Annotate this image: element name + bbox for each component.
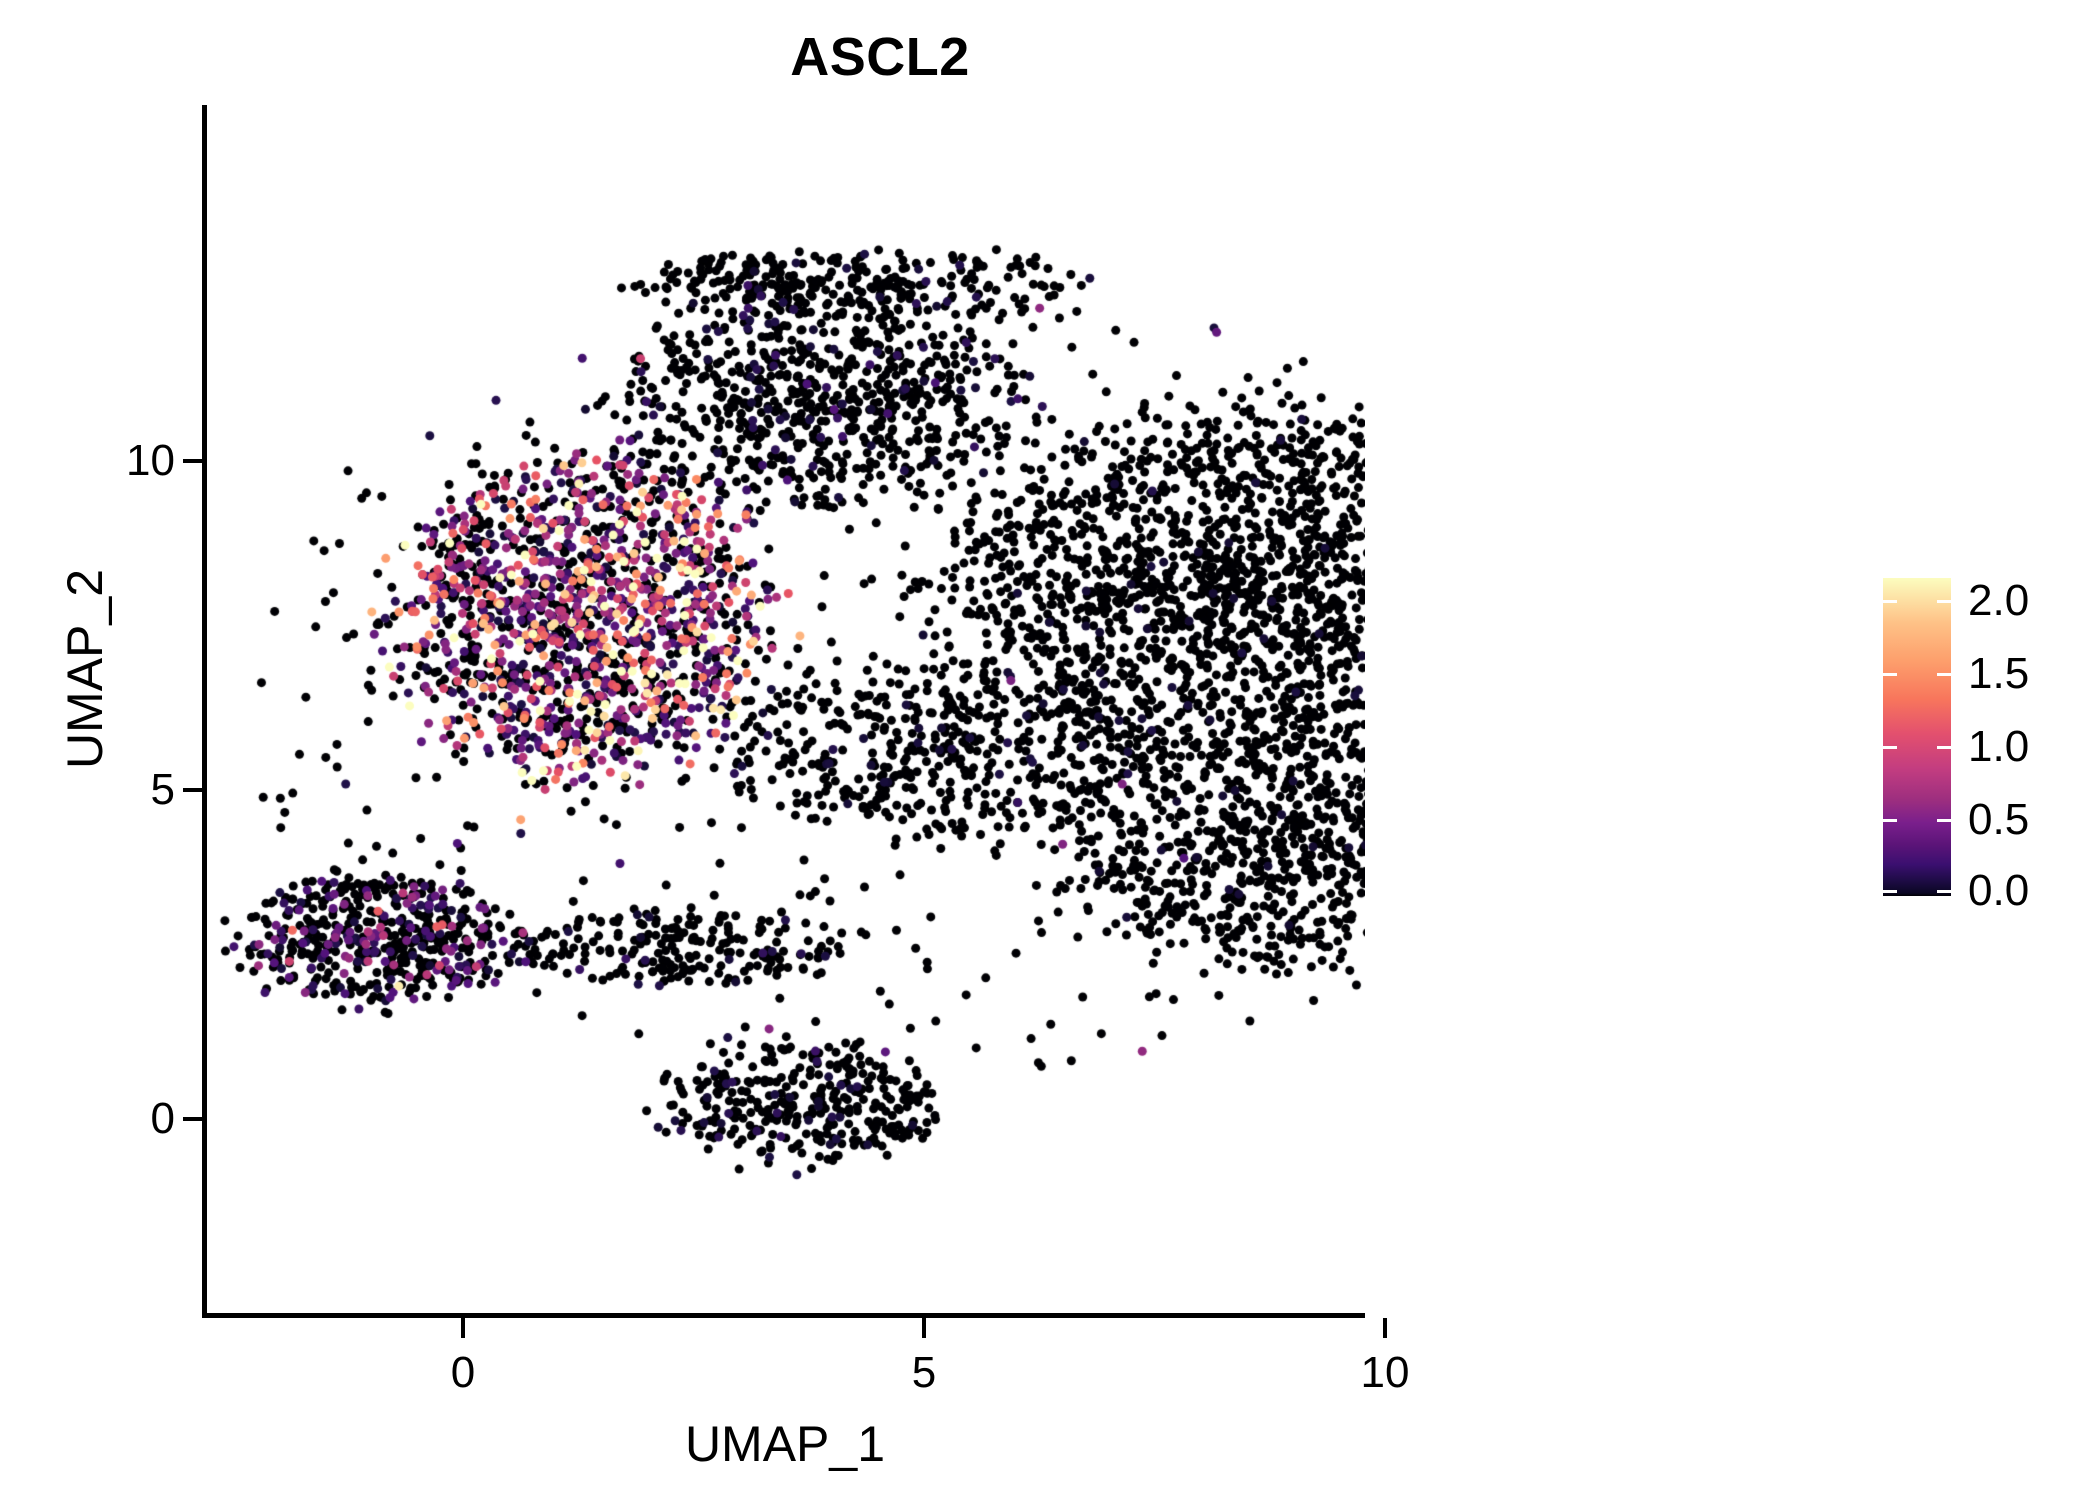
colorbar-legend: 2.0 1.5 1.0 0.5 0.0 xyxy=(1880,570,2080,910)
y-axis-title: UMAP_2 xyxy=(56,319,114,1019)
colorbar-tick-0.5-left xyxy=(1883,819,1897,822)
x-axis-line xyxy=(202,1313,1365,1318)
colorbar-tick-2.0-right xyxy=(1937,600,1951,603)
colorbar-tick-0.0-left xyxy=(1883,890,1897,893)
colorbar-label-0.5: 0.5 xyxy=(1968,795,2029,845)
scatter-plot-canvas xyxy=(205,105,1365,1315)
x-axis-title: UMAP_1 xyxy=(0,1415,1570,1473)
colorbar-tick-1.0-right xyxy=(1937,746,1951,749)
colorbar-tick-0.5-right xyxy=(1937,819,1951,822)
y-axis-line xyxy=(202,105,207,1317)
colorbar-label-0.0: 0.0 xyxy=(1968,866,2029,916)
colorbar-gradient xyxy=(1883,578,1951,896)
colorbar-label-1.5: 1.5 xyxy=(1968,649,2029,699)
colorbar-tick-1.5-right xyxy=(1937,673,1951,676)
x-tick-label-0: 0 xyxy=(363,1348,563,1398)
colorbar-label-2.0: 2.0 xyxy=(1968,576,2029,626)
y-tick-mark-10 xyxy=(183,459,203,463)
x-tick-mark-10 xyxy=(1383,1318,1387,1338)
colorbar-tick-1.5-left xyxy=(1883,673,1897,676)
x-tick-label-10: 10 xyxy=(1285,1348,1485,1398)
x-tick-mark-0 xyxy=(461,1318,465,1338)
y-tick-label-0: 0 xyxy=(5,1094,175,1144)
y-tick-mark-0 xyxy=(183,1117,203,1121)
colorbar-tick-1.0-left xyxy=(1883,746,1897,749)
x-tick-mark-5 xyxy=(922,1318,926,1338)
page-title: ASCL2 xyxy=(0,28,1760,87)
x-tick-label-5: 5 xyxy=(824,1348,1024,1398)
colorbar-label-1.0: 1.0 xyxy=(1968,722,2029,772)
feature-plot-figure: ASCL2 10 5 0 0 5 10 UMAP_1 UMAP_2 2.0 1.… xyxy=(0,0,2100,1500)
y-tick-mark-5 xyxy=(183,788,203,792)
plot-panel xyxy=(205,105,1365,1315)
colorbar-tick-2.0-left xyxy=(1883,600,1897,603)
colorbar-tick-0.0-right xyxy=(1937,890,1951,893)
